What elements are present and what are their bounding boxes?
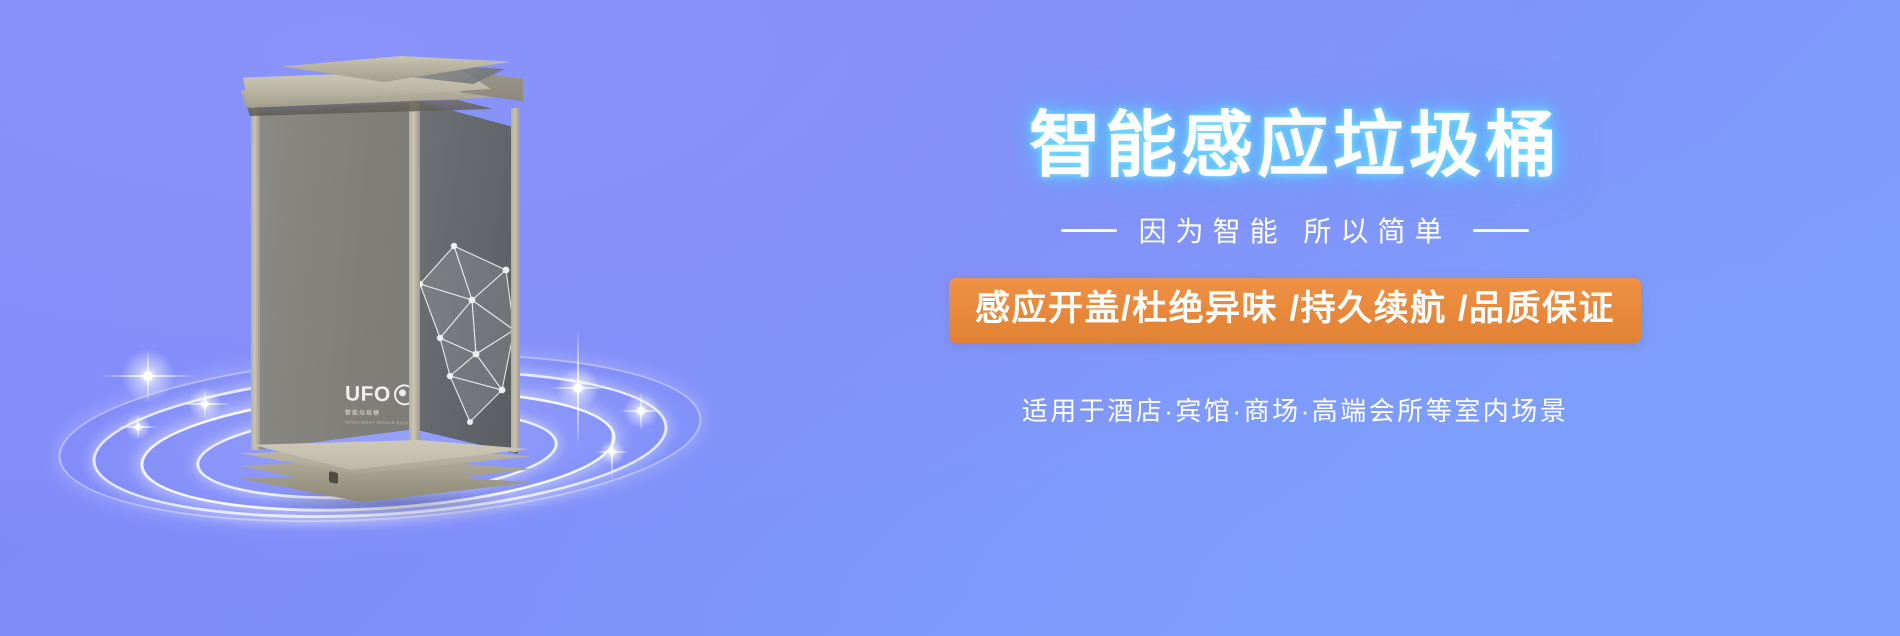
subline: 因为智能 所以简单	[880, 210, 1710, 250]
bin-frame-post-left	[251, 104, 260, 450]
bin-frame-post-center	[409, 102, 420, 454]
brand-logo-mark: UFO	[345, 383, 391, 405]
promo-banner: UFO 智能垃圾桶 INTELLIGENT SENSOR DUSTBIN	[0, 0, 1900, 636]
product-scene: UFO 智能垃圾桶 INTELLIGENT SENSOR DUSTBIN	[0, 0, 780, 636]
subline-text: 因为智能 所以简单	[1139, 210, 1452, 250]
rule-right-icon	[1473, 229, 1529, 232]
bin-frame-post-right	[511, 108, 520, 453]
bin-base-latch	[329, 471, 338, 484]
product-image-trash-bin: UFO 智能垃圾桶 INTELLIGENT SENSOR DUSTBIN	[233, 56, 563, 456]
rule-left-icon	[1061, 229, 1117, 232]
feature-banner-text: 感应开盖/杜绝异味 /持久续航 /品质保证	[975, 289, 1615, 328]
feature-banner: 感应开盖/杜绝异味 /持久续航 /品质保证	[949, 278, 1641, 342]
copy-block: 智能感应垃圾桶 因为智能 所以简单 感应开盖/杜绝异味 /持久续航 /品质保证 …	[880, 108, 1710, 528]
scene-line: 适用于酒店·宾馆·商场·高端会所等室内场景	[880, 391, 1710, 428]
headline: 智能感应垃圾桶	[880, 108, 1710, 184]
low-poly-network-graphic	[414, 226, 524, 436]
